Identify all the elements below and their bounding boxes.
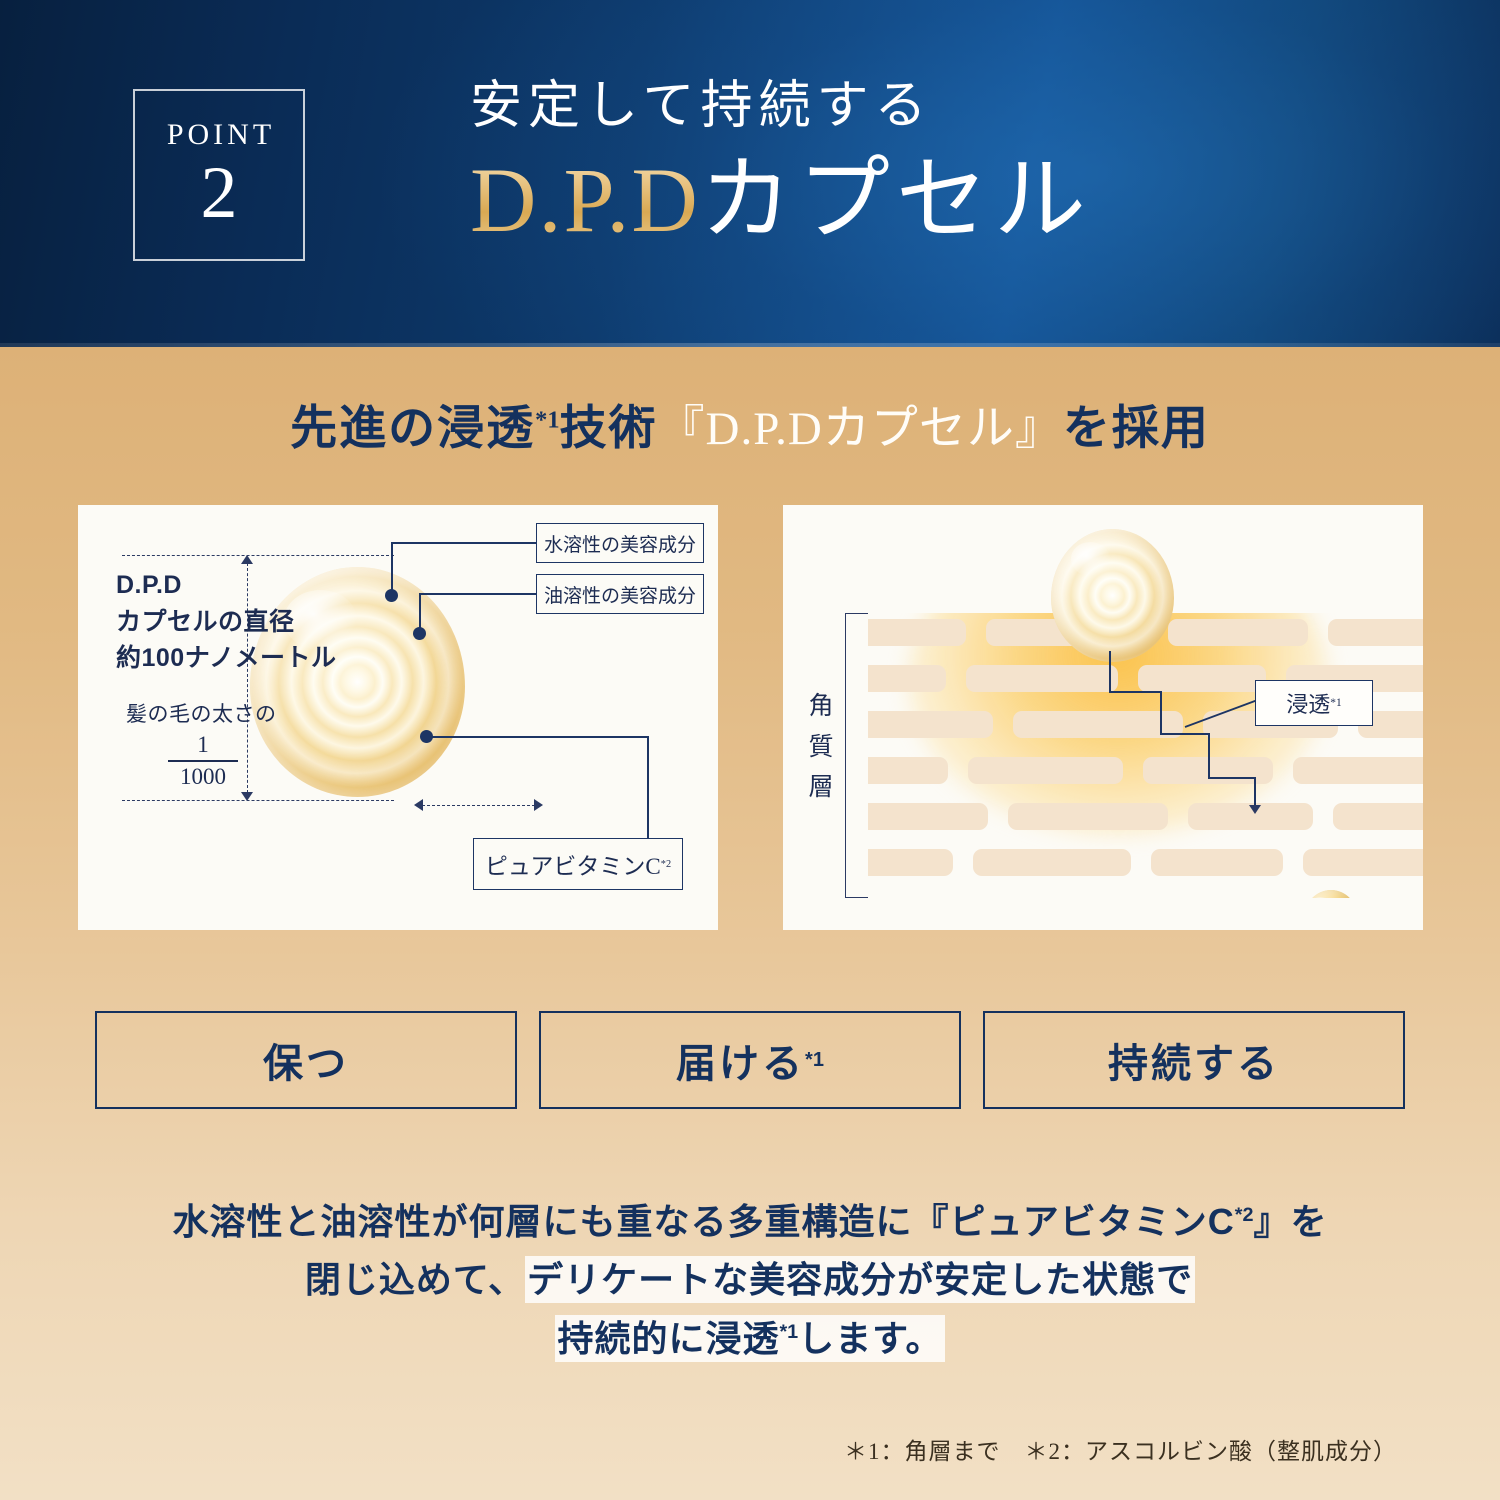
header-banner: POINT 2 安定して持続する D.P.Dカプセル bbox=[0, 0, 1500, 347]
capsule-diameter-text: D.P.D カプセルの直径 約100ナノメートル bbox=[116, 567, 336, 677]
subtitle-prefix: 先進の浸透 bbox=[290, 403, 535, 455]
path-segment-1 bbox=[1109, 651, 1111, 693]
callout-penetration-label: 浸透 bbox=[1286, 687, 1330, 719]
capsule-diameter-line1: D.P.D bbox=[116, 567, 336, 604]
subtitle-mark1: *1 bbox=[535, 406, 559, 433]
callout-oil-soluble-label: 油溶性の美容成分 bbox=[544, 581, 696, 608]
point-badge: POINT 2 bbox=[133, 89, 305, 261]
feature-box-sustain-label: 持続する bbox=[1108, 1031, 1280, 1089]
hair-fraction: 1 1000 bbox=[168, 733, 238, 790]
callout-pure-vitamin-c-mark: *2 bbox=[661, 859, 671, 870]
leader-dot-vitc bbox=[420, 730, 433, 743]
feature-box-deliver-label: 届ける bbox=[676, 1031, 805, 1089]
leader-dot-water bbox=[385, 589, 398, 602]
callout-pure-vitamin-c-label: ピュアビタミンC bbox=[485, 847, 661, 881]
description-line3-a: 持続的に浸透 bbox=[557, 1318, 779, 1359]
description-line1-b: 』を bbox=[1253, 1201, 1327, 1242]
path-segment-6 bbox=[1208, 777, 1256, 779]
feature-box-deliver-mark: *1 bbox=[805, 1049, 824, 1072]
point-label: POINT bbox=[163, 120, 275, 150]
stratum-corneum-label-text: 角質層 bbox=[808, 693, 833, 801]
hair-thickness-text: 髪の毛の太さの bbox=[126, 698, 277, 728]
description-line1-a: 水溶性と油溶性が何層にも重なる多重構造に『ピュアビタミンC bbox=[173, 1201, 1235, 1242]
layer-arrow-left-icon bbox=[414, 799, 423, 811]
callout-penetration: 浸透*1 bbox=[1255, 680, 1373, 726]
leader-line-vitc-horizontal bbox=[426, 736, 649, 738]
footnote: ＊1：角層まで ＊2：アスコルビン酸（整肌成分） bbox=[844, 1432, 1397, 1466]
leader-dot-oil bbox=[413, 627, 426, 640]
point-number: 2 bbox=[201, 156, 238, 230]
description-line3-mark: *1 bbox=[779, 1321, 798, 1343]
capsule-illustration-small bbox=[1051, 529, 1174, 662]
feature-box-row: 保つ 届ける*1 持続する bbox=[95, 1011, 1405, 1109]
header-title-line1: 安定して持続する bbox=[470, 78, 1450, 135]
path-segment-5 bbox=[1208, 733, 1210, 779]
feature-box-keep-label: 保つ bbox=[263, 1031, 349, 1089]
leader-line-water-vertical bbox=[391, 542, 393, 595]
layer-arrow-right-icon bbox=[534, 799, 543, 811]
description-line1-mark: *2 bbox=[1235, 1204, 1254, 1226]
path-segment-4 bbox=[1160, 733, 1210, 735]
stratum-corneum-label: 角質層 bbox=[805, 687, 837, 809]
fraction-numerator: 1 bbox=[168, 733, 238, 757]
description-line-1: 水溶性と油溶性が何層にも重なる多重構造に『ピュアビタミンC*2』を bbox=[0, 1193, 1500, 1251]
description-line2-highlight: デリケートな美容成分が安定した状態で bbox=[525, 1256, 1195, 1303]
callout-pure-vitamin-c: ピュアビタミンC*2 bbox=[473, 838, 683, 890]
callout-water-soluble: 水溶性の美容成分 bbox=[536, 523, 704, 563]
feature-box-sustain[interactable]: 持続する bbox=[983, 1011, 1405, 1109]
header-title-brand: D.P.D bbox=[470, 149, 700, 251]
description-line-2: 閉じ込めて、デリケートな美容成分が安定した状態で bbox=[0, 1251, 1500, 1309]
description-line-3: 持続的に浸透*1します。 bbox=[0, 1310, 1500, 1368]
leader-line-oil-horizontal bbox=[419, 593, 537, 595]
subtitle-prefix2: 技術 bbox=[560, 403, 658, 455]
callout-penetration-mark: *1 bbox=[1330, 697, 1341, 709]
header-title-group: 安定して持続する D.P.Dカプセル bbox=[470, 78, 1450, 252]
capsule-diameter-line2: カプセルの直径 bbox=[116, 604, 336, 641]
dimension-arrow-down-icon bbox=[241, 792, 253, 801]
section-subtitle: 先進の浸透*1技術『D.P.Dカプセル』を採用 bbox=[0, 401, 1500, 457]
capsule-structure-diagram: D.P.D カプセルの直径 約100ナノメートル 髪の毛の太さの 1 1000 … bbox=[78, 505, 718, 930]
description-line3-b: します。 bbox=[798, 1318, 942, 1359]
path-segment-3 bbox=[1160, 691, 1162, 735]
dimension-guide-bottom bbox=[122, 800, 394, 801]
capsule-diameter-line3: 約100ナノメートル bbox=[116, 640, 336, 677]
path-segment-2 bbox=[1109, 691, 1162, 693]
fraction-denominator: 1000 bbox=[168, 764, 238, 790]
body-area: 先進の浸透*1技術『D.P.Dカプセル』を採用 D.P.D カプセルの直径 約1… bbox=[0, 347, 1500, 1500]
callout-water-soluble-label: 水溶性の美容成分 bbox=[544, 530, 696, 557]
subtitle-white-part: 『D.P.Dカプセル』 bbox=[658, 403, 1063, 455]
header-title-suffix: カプセル bbox=[700, 149, 1092, 251]
dimension-arrow-up-icon bbox=[241, 555, 253, 564]
subtitle-suffix: を採用 bbox=[1063, 403, 1210, 455]
description-line3-highlight: 持続的に浸透*1します。 bbox=[555, 1315, 944, 1362]
header-title-line2: D.P.Dカプセル bbox=[470, 149, 1450, 252]
fraction-bar bbox=[168, 760, 238, 762]
infographic-page: POINT 2 安定して持続する D.P.Dカプセル 先進の浸透*1技術『D.P… bbox=[0, 0, 1500, 1500]
penetrating-droplet bbox=[1303, 890, 1359, 898]
feature-box-deliver[interactable]: 届ける*1 bbox=[539, 1011, 961, 1109]
layer-width-guide bbox=[422, 805, 540, 806]
leader-line-vitc-vertical bbox=[647, 736, 649, 838]
skin-layer-illustration bbox=[868, 613, 1423, 898]
penetration-arrow-icon bbox=[1249, 805, 1261, 814]
callout-oil-soluble: 油溶性の美容成分 bbox=[536, 574, 704, 614]
description-paragraph: 水溶性と油溶性が何層にも重なる多重構造に『ピュアビタミンC*2』を 閉じ込めて、… bbox=[0, 1193, 1500, 1368]
dimension-guide-top bbox=[122, 555, 394, 556]
penetration-diagram: 角質層 bbox=[783, 505, 1423, 930]
leader-line-water-horizontal bbox=[391, 542, 537, 544]
feature-box-keep[interactable]: 保つ bbox=[95, 1011, 517, 1109]
description-line2-plain: 閉じ込めて、 bbox=[305, 1259, 525, 1300]
